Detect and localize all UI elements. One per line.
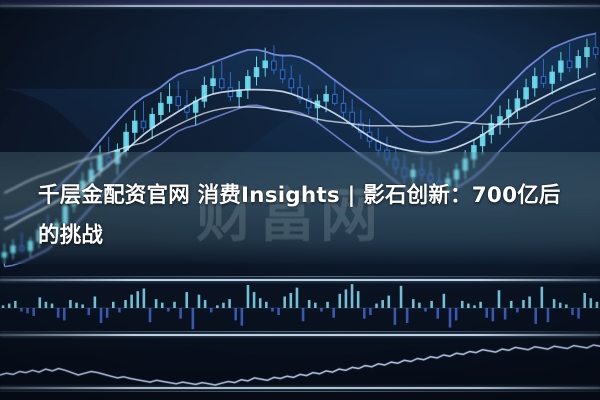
divider-bottom-faint	[0, 391, 600, 392]
volume-histogram-panel	[0, 282, 600, 334]
screenshot-root: 财富网 千层金配资官网 消费Insights | 影石创新：700亿后的挑战	[0, 0, 600, 400]
page-title: 千层金配资官网 消费Insights | 影石创新：700亿后的挑战	[38, 176, 562, 256]
divider-bottom	[0, 387, 600, 389]
divider-volume-line-faint	[0, 331, 600, 332]
divider-volume-line	[0, 334, 600, 336]
divider-price-volume	[0, 279, 600, 281]
divider-top	[0, 5, 600, 7]
volume-histogram-svg	[0, 282, 600, 334]
trend-line-panel	[0, 337, 600, 389]
trend-line-svg	[0, 337, 600, 389]
divider-price-volume-faint	[0, 276, 600, 277]
